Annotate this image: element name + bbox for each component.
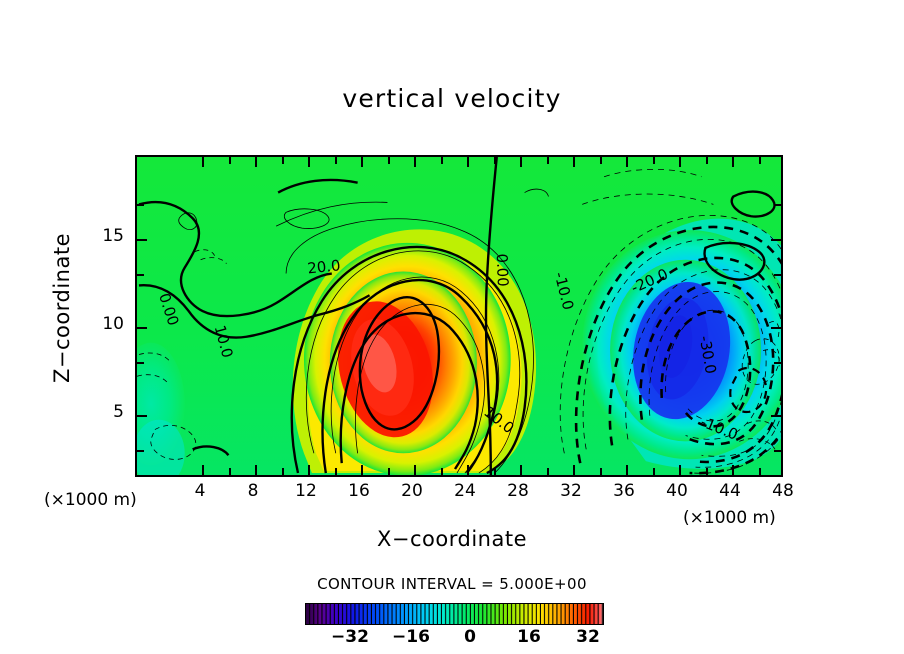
x-axis-title: X−coordinate [0, 527, 904, 551]
x-tick-6 [229, 468, 231, 475]
x-tick-top-34 [600, 157, 602, 164]
x-tick-28 [520, 465, 522, 475]
x-tick-38 [653, 468, 655, 475]
z-tick-17 [137, 204, 144, 206]
x-tick-top-28 [520, 157, 522, 167]
x-tick-label-4: 4 [177, 481, 223, 501]
x-tick-top-6 [229, 157, 231, 164]
cbar-tick-32: 32 [558, 627, 618, 647]
z-tick-8 [137, 362, 144, 364]
x-tick-top-42 [706, 157, 708, 164]
x-tick-18 [388, 468, 390, 475]
x-tick-44 [732, 465, 734, 475]
x-tick-top-4 [202, 157, 204, 167]
z-tick-15 [137, 239, 147, 241]
x-tick-22 [441, 468, 443, 475]
x-tick-14 [335, 468, 337, 475]
z-tick-right-13 [774, 274, 781, 276]
x-tick-label-16: 16 [336, 481, 382, 501]
z-tick-5 [137, 415, 147, 417]
x-unit-right: (×1000 m) [683, 508, 776, 528]
x-tick-46 [759, 468, 761, 475]
colorbar [305, 603, 604, 625]
z-tick-right-15 [771, 239, 781, 241]
x-tick-top-32 [573, 157, 575, 167]
z-tick-label-15: 15 [96, 226, 124, 246]
z-tick-right-8 [774, 362, 781, 364]
cbar-tick--16: −16 [381, 627, 441, 647]
x-tick-label-32: 32 [548, 481, 594, 501]
x-tick-top-44 [732, 157, 734, 167]
x-tick-label-40: 40 [654, 481, 700, 501]
contour-plot-area: 0.00 10.0 20.0 10.0 0.00 [135, 155, 783, 477]
z-tick-label-5: 5 [96, 402, 124, 422]
x-tick-30 [547, 468, 549, 475]
contour-label-left-twenty: 20.0 [306, 256, 341, 277]
y-axis-title: Z−coordinate [50, 208, 74, 408]
x-tick-26 [494, 468, 496, 475]
x-tick-top-24 [467, 157, 469, 167]
x-tick-top-14 [335, 157, 337, 164]
z-tick-13 [137, 274, 144, 276]
colorbar-tick-labels: −32 −16 0 16 32 [305, 627, 604, 651]
cbar-tick-0: 0 [440, 627, 500, 647]
x-tick-label-20: 20 [389, 481, 435, 501]
cbar-tick--32: −32 [320, 627, 380, 647]
x-tick-label-24: 24 [442, 481, 488, 501]
x-tick-label-12: 12 [283, 481, 329, 501]
z-tick-right-17 [774, 204, 781, 206]
x-tick-42 [706, 468, 708, 475]
x-tick-label-8: 8 [230, 481, 276, 501]
x-tick-40 [679, 465, 681, 475]
z-tick-right-3 [774, 450, 781, 452]
x-tick-top-46 [759, 157, 761, 164]
x-tick-top-12 [308, 157, 310, 167]
x-tick-4 [202, 465, 204, 475]
x-tick-16 [361, 465, 363, 475]
cbar-tick-16: 16 [499, 627, 559, 647]
x-tick-10 [282, 468, 284, 475]
x-tick-top-16 [361, 157, 363, 167]
z-tick-right-5 [771, 415, 781, 417]
x-tick-top-20 [414, 157, 416, 167]
x-tick-24 [467, 465, 469, 475]
x-tick-12 [308, 465, 310, 475]
x-tick-34 [600, 468, 602, 475]
x-tick-top-30 [547, 157, 549, 164]
z-tick-3 [137, 450, 144, 452]
x-tick-top-10 [282, 157, 284, 164]
contour-field: 0.00 10.0 20.0 10.0 0.00 [137, 157, 781, 475]
vertical-velocity-figure: vertical velocity [0, 0, 904, 654]
x-tick-top-36 [626, 157, 628, 167]
x-tick-top-26 [494, 157, 496, 164]
x-tick-top-38 [653, 157, 655, 164]
x-tick-label-36: 36 [601, 481, 647, 501]
x-tick-32 [573, 465, 575, 475]
x-tick-20 [414, 465, 416, 475]
z-tick-10 [137, 327, 147, 329]
x-tick-36 [626, 465, 628, 475]
x-tick-top-22 [441, 157, 443, 164]
x-tick-label-44: 44 [707, 481, 753, 501]
page-title: vertical velocity [0, 84, 904, 113]
x-tick-top-18 [388, 157, 390, 164]
x-tick-8 [255, 465, 257, 475]
z-tick-label-10: 10 [96, 314, 124, 334]
x-tick-label-28: 28 [495, 481, 541, 501]
x-unit-left: (×1000 m) [44, 490, 137, 510]
x-tick-top-40 [679, 157, 681, 167]
z-tick-right-10 [771, 327, 781, 329]
x-tick-top-8 [255, 157, 257, 167]
contour-label-mid-zero: 0.00 [493, 253, 512, 287]
contour-interval-caption: CONTOUR INTERVAL = 5.000E+00 [0, 575, 904, 593]
x-tick-label-48: 48 [760, 481, 806, 501]
